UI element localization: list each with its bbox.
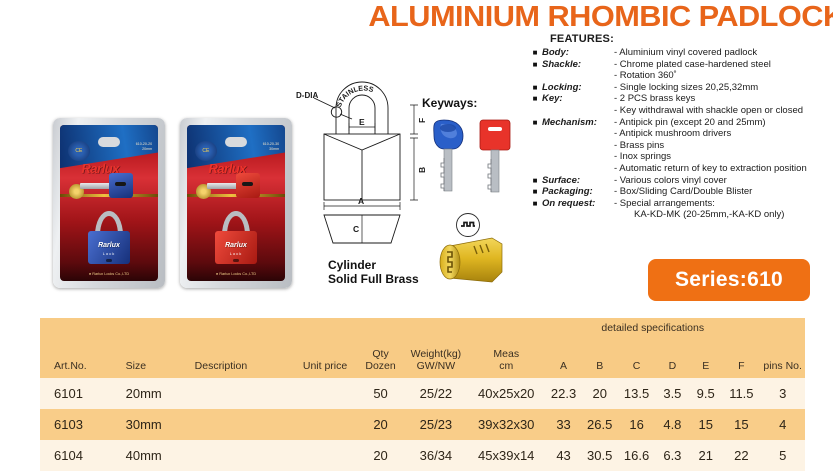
table-cell-f: 15 [722,409,760,440]
table-column-header-pins: pins No. [760,334,805,378]
table-cell-size: 30mm [112,409,181,440]
padlock-subbrand: Lock [88,251,129,256]
feature-label: Shackle: [542,59,614,71]
ce-mark-icon: CE [68,141,90,161]
blister-card: CE 610-20-20 20mm Rarlux Rarlux Lock ● R… [60,125,158,281]
table-row: 610330mm2025/2339x32x303326.5164.815154 [40,409,805,440]
table-cell-weight: 25/23 [404,409,467,440]
feature-row: ■- Automatic return of key to extraction… [528,163,833,175]
bullet-square-icon: ■ [528,47,542,59]
table-column-header-d: D [656,334,689,378]
table-cell-e: 9.5 [689,378,722,409]
column-header-line2: Dozen [365,360,395,372]
padlock-brand: Rarlux [88,242,129,249]
table-column-header-c: C [617,334,655,378]
padlock-subbrand: Lock [215,251,256,256]
table-group-spacer [112,318,181,334]
column-header-line1: Qty [372,348,388,360]
table-cell-description [181,378,294,409]
padlock-keyhole [233,259,240,262]
page-title: ALUMINIUM RHOMBIC PADLOCK [366,1,833,34]
bullet-square-icon: ■ [528,117,542,129]
key-blade [207,183,238,189]
key-head [236,173,259,198]
feature-row: ■Surface:- Various colors vinyl cover [528,175,833,187]
specifications-table: detailed specifications Art.No.SizeDescr… [40,318,805,471]
ce-mark-icon: CE [195,141,217,161]
features-list: ■Body:- Aluminium vinyl covered padlock■… [528,47,833,221]
feature-label: Surface: [542,175,614,187]
padlock-body: Rarlux Lock [88,231,129,264]
table-header-row: Art.No.SizeDescriptionUnit priceQtyDozen… [40,334,805,378]
feature-row: ■- Rotation 360˚ [528,70,833,82]
table-cell-pins: 5 [760,440,805,471]
cylinder-caption: Cylinder Solid Full Brass [328,258,419,286]
column-header-line2: cm [499,360,513,372]
bullet-square-icon: ■ [528,82,542,94]
table-cell-description [181,440,294,471]
column-header-line2: E [702,360,709,372]
svg-text:STAINLESS: STAINLESS [334,83,375,108]
keyways-heading: Keyways: [422,96,477,110]
column-header-line1: Meas [493,348,519,360]
table-cell-qty: 20 [357,409,405,440]
cylinder-caption-line2: Solid Full Brass [328,272,419,286]
table-cell-e: 15 [689,409,722,440]
table-column-header-f: F [722,334,760,378]
dim-label-d-dia: D-DIA [296,91,318,100]
table-group-spacer [181,318,294,334]
series-badge: Series:610 [648,259,810,301]
table-cell-size: 40mm [112,440,181,471]
table-cell-b: 20 [582,378,617,409]
table-cell-size: 20mm [112,378,181,409]
feature-value: - 2 PCS brass keys [614,93,833,105]
dim-label-b: B [417,167,427,173]
feature-row: ■Mechanism:- Antipick pin (except 20 and… [528,117,833,129]
product-sku-1: 610-20-20 20mm [136,142,152,152]
table-cell-pins: 4 [760,409,805,440]
feature-label: On request: [542,198,614,210]
table-column-header-art_no: Art.No. [40,334,112,378]
table-cell-art_no: 6104 [40,440,112,471]
key-head [109,173,132,198]
table-cell-a: 33 [545,409,582,440]
feature-row: ■- Key withdrawal with shackle open or c… [528,105,833,117]
table-column-header-e: E [689,334,722,378]
keys-illustration [432,118,516,208]
key-head-slot [242,182,253,186]
table-cell-meas: 40x25x20 [467,378,545,409]
table-cell-b: 26.5 [582,409,617,440]
table-cell-d: 3.5 [656,378,689,409]
feature-row: ■On request:- Special arrangements: [528,198,833,210]
column-header-line1: Weight(kg) [411,348,462,360]
package-footer-2: ● Rarlux Locks Co.,LTD [187,272,285,276]
cylinder-caption-line1: Cylinder [328,258,419,272]
padlock-keyhole [106,259,113,262]
feature-value: - Automatic return of key to extraction … [614,163,833,175]
feature-row: ■Shackle:- Chrome plated case-hardened s… [528,59,833,71]
table-column-header-meas: Meascm [467,334,545,378]
features-heading: FEATURES: [550,33,833,45]
table-column-header-size: Size [112,334,181,378]
feature-value: - Rotation 360˚ [614,70,833,82]
column-header-line2: C [633,360,641,372]
table-cell-f: 11.5 [722,378,760,409]
feature-value: - Key withdrawal with shackle open or cl… [614,105,833,117]
feature-label: Mechanism: [542,117,614,129]
dim-label-e: E [359,117,365,127]
feature-value: - Chrome plated case-hardened steel [614,59,833,71]
table-group-spacer [404,318,467,334]
column-header-line1: Unit price [303,360,347,372]
bullet-square-icon: ■ [528,175,542,187]
table-cell-d: 4.8 [656,409,689,440]
key-blade [80,183,111,189]
table-row: 610440mm2036/3445x39x144330.516.66.32122… [40,440,805,471]
column-header-line1: Art.No. [54,360,87,372]
table-cell-meas: 45x39x14 [467,440,545,471]
table-cell-unit_price [293,440,356,471]
table-cell-unit_price [293,409,356,440]
table-group-header-detailed-specifications: detailed specifications [545,318,760,334]
column-header-line2: A [560,360,567,372]
feature-value: - Brass pins [614,140,833,152]
table-column-header-b: B [582,334,617,378]
feature-row: ■- Antipick mushroom drivers [528,128,833,140]
table-column-header-weight: Weight(kg)GW/NW [404,334,467,378]
key-head-slot [115,182,126,186]
table-column-header-description: Description [181,334,294,378]
dim-label-f: F [417,118,427,123]
table-cell-d: 6.3 [656,440,689,471]
feature-value: - Single locking sizes 20,25,32mm [614,82,833,94]
feature-label: Key: [542,93,614,105]
packaged-key-1 [80,173,133,198]
column-header-line2: GW/NW [417,360,456,372]
feature-value: - Aluminium vinyl covered padlock [614,47,833,59]
table-group-spacer [40,318,112,334]
table-cell-art_no: 6101 [40,378,112,409]
dim-label-c: C [353,224,359,234]
hang-tab [98,137,120,146]
table-cell-c: 16 [617,409,655,440]
feature-value: - Antipick pin (except 20 and 25mm) [614,117,833,129]
features-section: FEATURES: ■Body:- Aluminium vinyl covere… [528,33,833,221]
table-group-spacer [760,318,805,334]
feature-value: - Antipick mushroom drivers [614,128,833,140]
feature-value: - Special arrangements: [614,198,833,210]
hang-tab [225,137,247,146]
column-header-line1: Description [195,360,248,372]
package-footer-1: ● Rarlux Locks Co.,LTD [60,272,158,276]
table-group-spacer [293,318,356,334]
padlock-body: Rarlux Lock [215,231,256,264]
feature-row: ■- Brass pins [528,140,833,152]
table-cell-unit_price [293,378,356,409]
feature-value: - Box/Sliding Card/Double Blister [614,186,833,198]
blister-card: CE 610-20-30 30mm Rarlux Rarlux Lock ● R… [187,125,285,281]
key-red [480,120,510,192]
feature-row: ■KA-KD-MK (20-25mm,-KA-KD only) [528,209,833,221]
column-header-line2: D [669,360,677,372]
table-column-header-a: A [545,334,582,378]
column-header-line2: pins No. [763,360,802,372]
table-cell-pins: 3 [760,378,805,409]
table-cell-f: 22 [722,440,760,471]
sku-line1: 610-20-20 [136,142,152,146]
table-cell-e: 21 [689,440,722,471]
padlock-brand: Rarlux [215,242,256,249]
feature-value: - Various colors vinyl cover [614,175,833,187]
bullet-square-icon: ■ [528,59,542,71]
table-cell-description [181,409,294,440]
table-cell-a: 43 [545,440,582,471]
table-column-header-unit_price: Unit price [293,334,356,378]
table-cell-weight: 25/22 [404,378,467,409]
table-cell-a: 22.3 [545,378,582,409]
bullet-square-icon: ■ [528,93,542,105]
table-column-header-qty: QtyDozen [357,334,405,378]
brass-cylinder-illustration [430,232,510,294]
sku-line2: 30mm [269,147,279,151]
packaged-padlock-1: Rarlux Lock [88,211,129,264]
column-header-line2: F [738,360,744,372]
feature-label: Locking: [542,82,614,94]
product-photo-red: CE 610-20-30 30mm Rarlux Rarlux Lock ● R… [180,118,292,288]
key-blue [434,120,463,191]
packaged-key-2 [207,173,260,198]
feature-row: ■- Inox springs [528,151,833,163]
packaged-padlock-2: Rarlux Lock [215,211,256,264]
product-sku-2: 610-20-30 30mm [263,142,279,152]
bullet-square-icon: ■ [528,198,542,210]
table-group-spacer [467,318,545,334]
table-cell-art_no: 6103 [40,409,112,440]
table-cell-weight: 36/34 [404,440,467,471]
feature-row: ■Packaging:- Box/Sliding Card/Double Bli… [528,186,833,198]
table-cell-b: 30.5 [582,440,617,471]
bullet-square-icon: ■ [528,186,542,198]
feature-row: ■Key:- 2 PCS brass keys [528,93,833,105]
feature-row: ■Locking:- Single locking sizes 20,25,32… [528,82,833,94]
feature-row: ■Body:- Aluminium vinyl covered padlock [528,47,833,59]
table-cell-meas: 39x32x30 [467,409,545,440]
table-head: detailed specifications Art.No.SizeDescr… [40,318,805,378]
feature-label: Packaging: [542,186,614,198]
product-photo-blue: CE 610-20-20 20mm Rarlux Rarlux Lock ● R… [53,118,165,288]
feature-value: KA-KD-MK (20-25mm,-KA-KD only) [614,209,833,221]
sku-line1: 610-20-30 [263,142,279,146]
sku-line2: 20mm [142,147,152,151]
column-header-line1: Size [126,360,146,372]
table-group-spacer [357,318,405,334]
table-group-header-row: detailed specifications [40,318,805,334]
column-header-line2: B [596,360,603,372]
feature-label: Body: [542,47,614,59]
table-cell-c: 16.6 [617,440,655,471]
table-body: 610120mm5025/2240x25x2022.32013.53.59.51… [40,378,805,471]
table-cell-qty: 50 [357,378,405,409]
table-cell-qty: 20 [357,440,405,471]
table-cell-c: 13.5 [617,378,655,409]
table-row: 610120mm5025/2240x25x2022.32013.53.59.51… [40,378,805,409]
dim-label-a: A [358,196,364,206]
feature-value: - Inox springs [614,151,833,163]
